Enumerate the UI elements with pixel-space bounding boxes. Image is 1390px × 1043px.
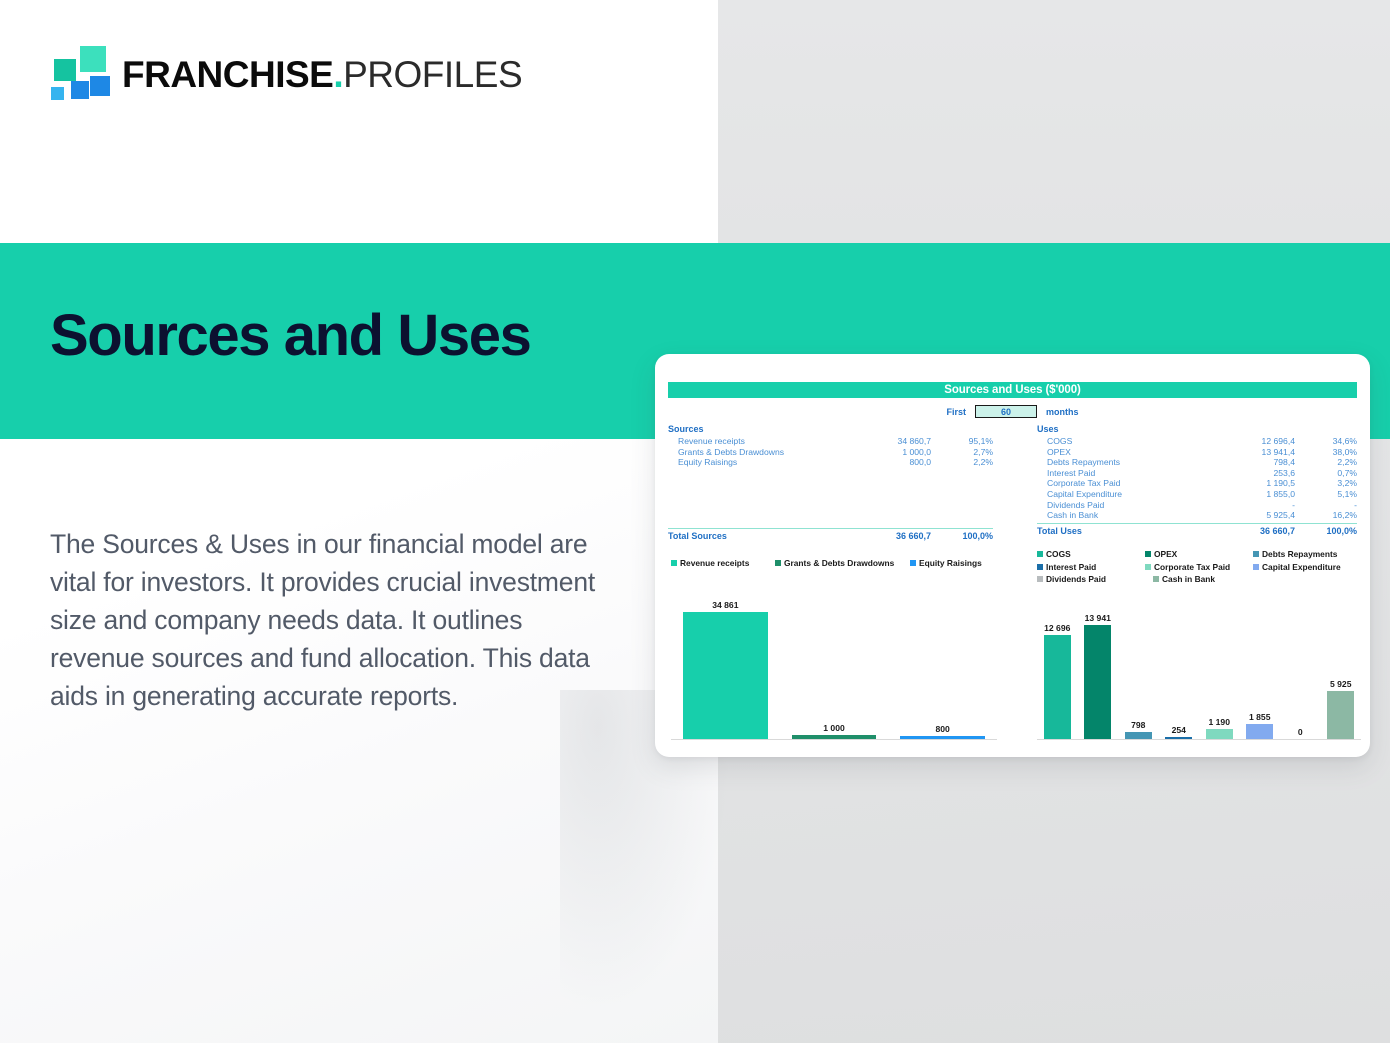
table-row: COGS 12 696,4 34,6% <box>1037 436 1357 447</box>
bar-column[interactable]: 254 <box>1159 599 1200 739</box>
row-label: Revenue receipts <box>668 436 839 447</box>
bar-value-label: 12 696 <box>1044 623 1070 633</box>
table-row: Equity Raisings 800,0 2,2% <box>668 457 993 468</box>
legend-swatch-icon <box>671 560 677 566</box>
legend-swatch-icon <box>1145 564 1151 570</box>
table-row: Capital Expenditure 1 855,0 5,1% <box>1037 489 1357 500</box>
sources-total-row: Total Sources 36 660,7 100,0% <box>668 528 993 539</box>
bar-rect[interactable] <box>1206 729 1233 739</box>
brand-name-bold: FRANCHISE <box>122 54 333 95</box>
table-row: Interest Paid 253,6 0,7% <box>1037 468 1357 479</box>
sources-and-uses-sheet: Sources and Uses ($'000) First 60 months… <box>655 354 1370 757</box>
row-percent: 2,2% <box>1295 457 1357 468</box>
legend-label: Interest Paid <box>1046 562 1096 572</box>
spreadsheet-screenshot-card: Sources and Uses ($'000) First 60 months… <box>655 354 1370 757</box>
bar-column[interactable]: 1 190 <box>1199 599 1240 739</box>
row-percent: 0,7% <box>1295 468 1357 479</box>
legend-swatch-icon <box>775 560 781 566</box>
period-months-input[interactable]: 60 <box>975 405 1037 418</box>
brand-wordmark: FRANCHISE.PROFILES <box>122 56 522 93</box>
page-title: Sources and Uses <box>50 306 530 367</box>
uses-table-header: Uses <box>1037 424 1357 434</box>
row-label: Grants & Debts Drawdowns <box>668 447 839 458</box>
legend-row: Interest PaidCorporate Tax PaidCapital E… <box>1037 561 1361 574</box>
uses-bar-chart: 12 69613 9417982541 1901 85505 925 <box>1037 599 1361 739</box>
sources-bar-chart: 34 8611 000800 <box>671 599 997 739</box>
bar-rect[interactable] <box>1327 691 1354 739</box>
row-amount: 1 000,0 <box>839 447 931 458</box>
legend-item[interactable]: Corporate Tax Paid <box>1145 562 1253 572</box>
period-suffix-label: months <box>1046 407 1079 417</box>
table-row: Revenue receipts 34 860,7 95,1% <box>668 436 993 447</box>
legend-label: Equity Raisings <box>919 558 982 568</box>
legend-item[interactable]: Capital Expenditure <box>1253 562 1361 572</box>
legend-swatch-icon <box>910 560 916 566</box>
sheet-title-bar: Sources and Uses ($'000) <box>668 382 1357 398</box>
legend-label: Dividends Paid <box>1046 574 1106 584</box>
legend-swatch-icon <box>1253 551 1259 557</box>
row-label: Dividends Paid <box>1037 500 1203 511</box>
brand-name-light: PROFILES <box>343 54 522 95</box>
row-percent: 95,1% <box>931 436 993 447</box>
legend-item[interactable]: OPEX <box>1145 549 1253 559</box>
legend-row: Revenue receiptsGrants & Debts Drawdowns… <box>671 557 997 570</box>
legend-row: Dividends PaidCash in Bank <box>1037 573 1361 586</box>
chart-axis-line <box>671 739 997 740</box>
legend-row: COGSOPEXDebts Repayments <box>1037 548 1361 561</box>
bar-column[interactable]: 1 855 <box>1240 599 1281 739</box>
legend-swatch-icon <box>1153 576 1159 582</box>
period-selector-row: First 60 months <box>668 404 1357 419</box>
bar-rect[interactable] <box>1084 625 1111 739</box>
uses-total-row: Total Uses 36 660,7 100,0% <box>1037 523 1357 534</box>
bar-value-label: 800 <box>936 724 950 734</box>
table-filler <box>668 468 993 526</box>
table-row: Corporate Tax Paid 1 190,5 3,2% <box>1037 478 1357 489</box>
bar-column[interactable]: 0 <box>1280 599 1321 739</box>
bar-value-label: 5 925 <box>1330 679 1352 689</box>
bar-value-label: 34 861 <box>712 600 738 610</box>
row-label: Total Sources <box>668 531 839 542</box>
row-percent: 3,2% <box>1295 478 1357 489</box>
bar-column[interactable]: 13 941 <box>1078 599 1119 739</box>
row-percent: 34,6% <box>1295 436 1357 447</box>
row-amount: 34 860,7 <box>839 436 931 447</box>
bar-column[interactable]: 34 861 <box>671 599 780 739</box>
row-percent: 2,2% <box>931 457 993 468</box>
row-amount: 5 925,4 <box>1203 510 1295 521</box>
bar-column[interactable]: 5 925 <box>1321 599 1362 739</box>
legend-swatch-icon <box>1145 551 1151 557</box>
period-prefix-label: First <box>946 407 966 417</box>
row-label: Interest Paid <box>1037 468 1203 479</box>
legend-item[interactable]: Cash in Bank <box>1153 574 1269 584</box>
bar-rect[interactable] <box>1125 732 1152 739</box>
brand-logo: FRANCHISE.PROFILES <box>48 45 522 103</box>
bar-column[interactable]: 12 696 <box>1037 599 1078 739</box>
row-amount: 1 855,0 <box>1203 489 1295 500</box>
sources-table: Sources Revenue receipts 34 860,7 95,1% … <box>668 424 993 538</box>
bar-column[interactable]: 798 <box>1118 599 1159 739</box>
row-label: Total Uses <box>1037 526 1203 537</box>
bar-value-label: 798 <box>1131 720 1145 730</box>
table-row: Grants & Debts Drawdowns 1 000,0 2,7% <box>668 447 993 458</box>
legend-item[interactable]: Revenue receipts <box>671 558 775 568</box>
row-percent: 16,2% <box>1295 510 1357 521</box>
bar-value-label: 1 855 <box>1249 712 1271 722</box>
bar-value-label: 13 941 <box>1085 613 1111 623</box>
legend-label: COGS <box>1046 549 1071 559</box>
row-amount: 253,6 <box>1203 468 1295 479</box>
sources-table-header: Sources <box>668 424 993 434</box>
legend-label: Capital Expenditure <box>1262 562 1341 572</box>
bar-value-label: 1 190 <box>1208 717 1230 727</box>
legend-label: Corporate Tax Paid <box>1154 562 1230 572</box>
chart-axis-line <box>1037 739 1361 740</box>
legend-label: OPEX <box>1154 549 1177 559</box>
legend-item[interactable]: Interest Paid <box>1037 562 1145 572</box>
bar-value-label: 1 000 <box>823 723 845 733</box>
table-row: OPEX 13 941,4 38,0% <box>1037 447 1357 458</box>
bar-column[interactable]: 800 <box>888 599 997 739</box>
legend-swatch-icon <box>1037 576 1043 582</box>
table-row: Cash in Bank 5 925,4 16,2% <box>1037 510 1357 521</box>
brand-dot: . <box>333 54 343 95</box>
legend-item[interactable]: COGS <box>1037 549 1145 559</box>
row-amount: 36 660,7 <box>839 531 931 542</box>
legend-label: Debts Repayments <box>1262 549 1337 559</box>
row-percent: 2,7% <box>931 447 993 458</box>
row-amount: 12 696,4 <box>1203 436 1295 447</box>
legend-item[interactable]: Equity Raisings <box>910 558 982 568</box>
bar-rect[interactable] <box>1044 635 1071 739</box>
row-percent: 100,0% <box>1295 526 1357 537</box>
bar-rect[interactable] <box>683 612 768 739</box>
row-amount: 800,0 <box>839 457 931 468</box>
legend-label: Grants & Debts Drawdowns <box>784 558 894 568</box>
body-paragraph: The Sources & Uses in our financial mode… <box>50 525 620 715</box>
row-amount: 1 190,5 <box>1203 478 1295 489</box>
row-percent: 100,0% <box>931 531 993 542</box>
row-label: OPEX <box>1037 447 1203 458</box>
legend-item[interactable]: Debts Repayments <box>1253 549 1361 559</box>
legend-swatch-icon <box>1253 564 1259 570</box>
bar-value-label: 0 <box>1298 727 1303 737</box>
row-amount: - <box>1203 500 1295 511</box>
legend-item[interactable]: Dividends Paid <box>1037 574 1153 584</box>
row-amount: 13 941,4 <box>1203 447 1295 458</box>
table-row: Debts Repayments 798,4 2,2% <box>1037 457 1357 468</box>
row-amount: 798,4 <box>1203 457 1295 468</box>
uses-table: Uses COGS 12 696,4 34,6% OPEX 13 941,4 3… <box>1037 424 1357 533</box>
row-label: Capital Expenditure <box>1037 489 1203 500</box>
table-row: Dividends Paid - - <box>1037 500 1357 511</box>
legend-label: Cash in Bank <box>1162 574 1215 584</box>
row-percent: - <box>1295 500 1357 511</box>
row-label: Debts Repayments <box>1037 457 1203 468</box>
sources-chart-legend: Revenue receiptsGrants & Debts Drawdowns… <box>671 557 997 570</box>
background-top-split <box>718 0 1390 243</box>
row-percent: 5,1% <box>1295 489 1357 500</box>
row-label: Cash in Bank <box>1037 510 1203 521</box>
legend-item[interactable]: Grants & Debts Drawdowns <box>775 558 910 568</box>
bar-value-label: 254 <box>1172 725 1186 735</box>
legend-swatch-icon <box>1037 564 1043 570</box>
uses-chart-legend: COGSOPEXDebts RepaymentsInterest PaidCor… <box>1037 548 1361 586</box>
row-amount: 36 660,7 <box>1203 526 1295 537</box>
logo-squares-icon <box>48 45 116 103</box>
row-percent: 38,0% <box>1295 447 1357 458</box>
row-label: Equity Raisings <box>668 457 839 468</box>
row-label: COGS <box>1037 436 1203 447</box>
slide-canvas: FRANCHISE.PROFILES Sources and Uses The … <box>0 0 1390 1043</box>
legend-swatch-icon <box>1037 551 1043 557</box>
bar-column[interactable]: 1 000 <box>780 599 889 739</box>
legend-label: Revenue receipts <box>680 558 749 568</box>
bar-rect[interactable] <box>1246 724 1273 739</box>
row-label: Corporate Tax Paid <box>1037 478 1203 489</box>
